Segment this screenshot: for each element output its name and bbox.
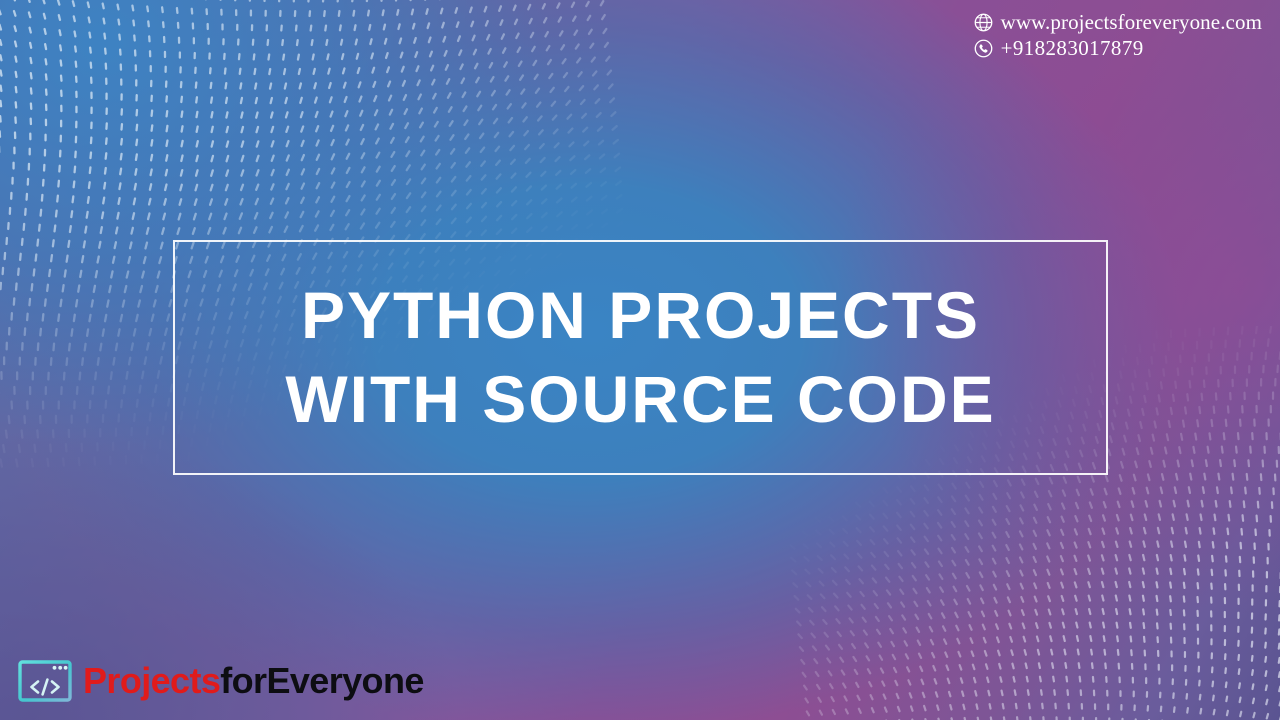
- phone-icon: [973, 38, 994, 59]
- website-row: www.projectsforeveryone.com: [973, 12, 1262, 33]
- brand-name-primary: Projects: [83, 660, 220, 701]
- slide-canvas: www.projectsforeveryone.com +91828301787…: [0, 0, 1280, 720]
- title-line-2: WITH SOURCE CODE: [285, 358, 995, 441]
- title-frame: PYTHON PROJECTS WITH SOURCE CODE: [173, 240, 1108, 475]
- title-line-1: PYTHON PROJECTS: [301, 274, 980, 357]
- phone-row: +918283017879: [973, 38, 1262, 59]
- contact-info: www.projectsforeveryone.com +91828301787…: [973, 12, 1262, 59]
- globe-icon: [973, 12, 994, 33]
- brand-logo: ProjectsforEveryone: [18, 660, 424, 702]
- website-text: www.projectsforeveryone.com: [1001, 12, 1262, 33]
- brand-name-secondary: forEveryone: [220, 660, 423, 701]
- code-window-icon: [18, 660, 72, 702]
- phone-text: +918283017879: [1001, 38, 1144, 59]
- brand-name: ProjectsforEveryone: [83, 663, 424, 699]
